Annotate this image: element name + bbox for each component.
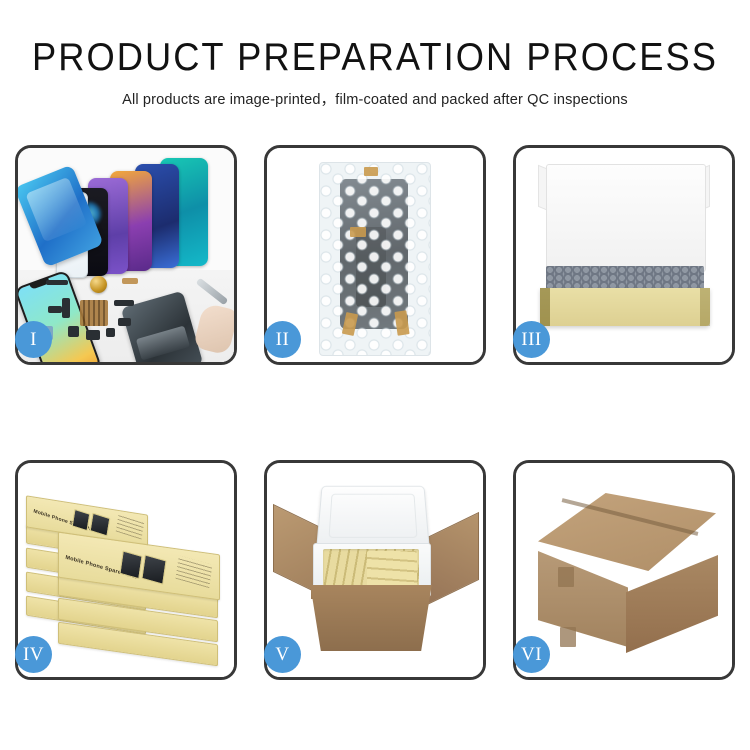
process-step-panel-5: V Boxes loaded into foam-lined shipping … [264,460,486,680]
speaker-part-icon [86,330,100,340]
yellow-box-front-icon [540,288,710,326]
box-window-icon [72,509,91,531]
step-2-illustration [267,148,483,362]
step-6-illustration [516,463,732,677]
small-part-icon [114,300,134,306]
circuit-grid-icon [80,300,108,326]
box-lid-icon [546,164,706,272]
small-part-icon [118,318,131,326]
step-number-badge-4: IV [15,636,52,673]
process-step-panel-2: II Screen assembly sealed in bubble wrap… [264,145,486,365]
small-part-icon [48,306,62,313]
step-3-illustration [516,148,732,362]
small-part-icon [62,298,70,318]
carton-flap-right-icon [425,512,479,606]
step-number-badge-1: I [15,321,52,358]
carton-right-face-icon [626,555,718,653]
box-side-left-icon [540,288,550,326]
flex-cable-icon [122,278,138,284]
tape-strip-icon [350,227,366,237]
carton-left-face-icon [538,551,628,647]
box-window-icon [141,554,166,584]
box-window-icon [119,550,142,579]
carton-tape-patch-icon [560,627,576,647]
box-stack-icon: Mobile Phone Spare Parts Mobile Phone Sp… [24,481,234,671]
page-title: PRODUCT PREPARATION PROCESS [26,38,724,79]
step-number-badge-6: VI [513,636,550,673]
step-number-badge-5: V [264,636,301,673]
carton-front-wall-icon [305,585,437,651]
yellow-boxes-row-icon [367,551,417,587]
page-header: PRODUCT PREPARATION PROCESS All products… [0,0,750,109]
box-side-right-icon [700,288,710,326]
copper-coil-icon [90,276,107,293]
step-4-illustration: Mobile Phone Spare Parts Mobile Phone Sp… [18,463,234,677]
carton-tape-patch-icon [558,567,574,587]
process-step-panel-3: III Bubble-wrapped item placed in open y… [513,145,735,365]
step-number-badge-2: II [264,321,301,358]
step-1-illustration [18,148,234,362]
foam-lid-icon [316,486,430,550]
step-5-illustration [267,463,483,677]
small-part-icon [68,326,79,337]
bubble-texture-icon [320,163,430,355]
box-spec-lines-icon [175,555,212,588]
box-spec-lines-icon [116,514,144,539]
process-step-panel-4: Mobile Phone Spare Parts Mobile Phone Sp… [15,460,237,680]
step-number-badge-3: III [513,321,550,358]
small-part-icon [106,328,115,337]
small-part-icon [46,280,68,285]
tape-strip-icon [364,167,378,176]
process-step-grid: I Phone screens, display assemblies and … [15,145,735,680]
page-subtitle: All products are image-printed，film-coat… [11,88,739,109]
process-step-panel-6: VI Sealed brown shipping carton ready to… [513,460,735,680]
bubble-wrap-bag-icon [319,162,431,356]
process-step-panel-1: I Phone screens, display assemblies and … [15,145,237,365]
